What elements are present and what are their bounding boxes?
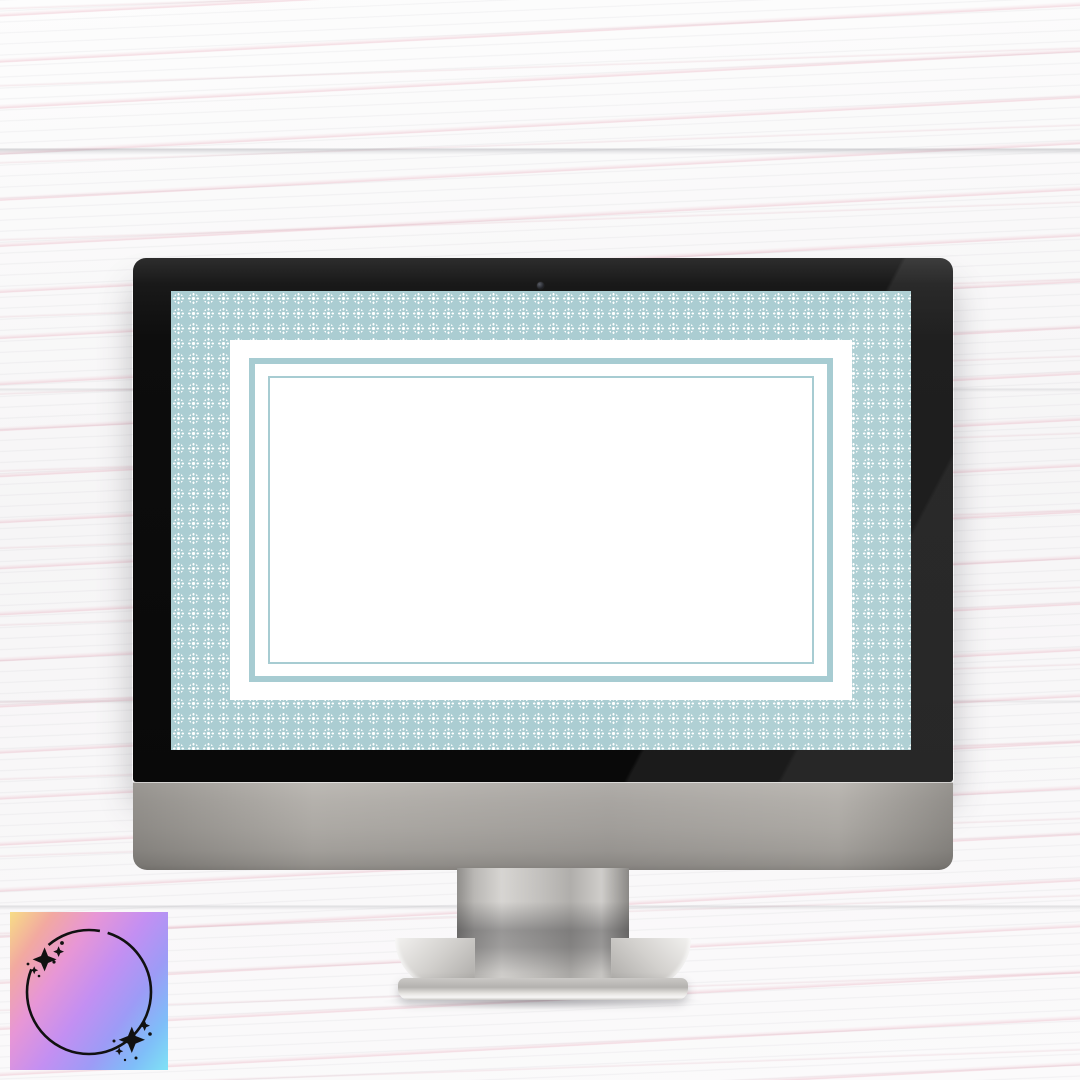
webcam-icon <box>537 282 544 289</box>
card-outer-frame <box>249 358 833 682</box>
card-inner-frame <box>268 376 814 664</box>
poster-canvas <box>0 0 1080 1080</box>
monitor-stand-neck <box>457 868 629 988</box>
monitor-screen <box>171 291 911 750</box>
monitor-stand-base <box>398 978 688 1000</box>
monitor-chin <box>133 782 953 870</box>
bottom-gradient-banner <box>0 1014 1080 1080</box>
cover-card <box>230 340 852 700</box>
